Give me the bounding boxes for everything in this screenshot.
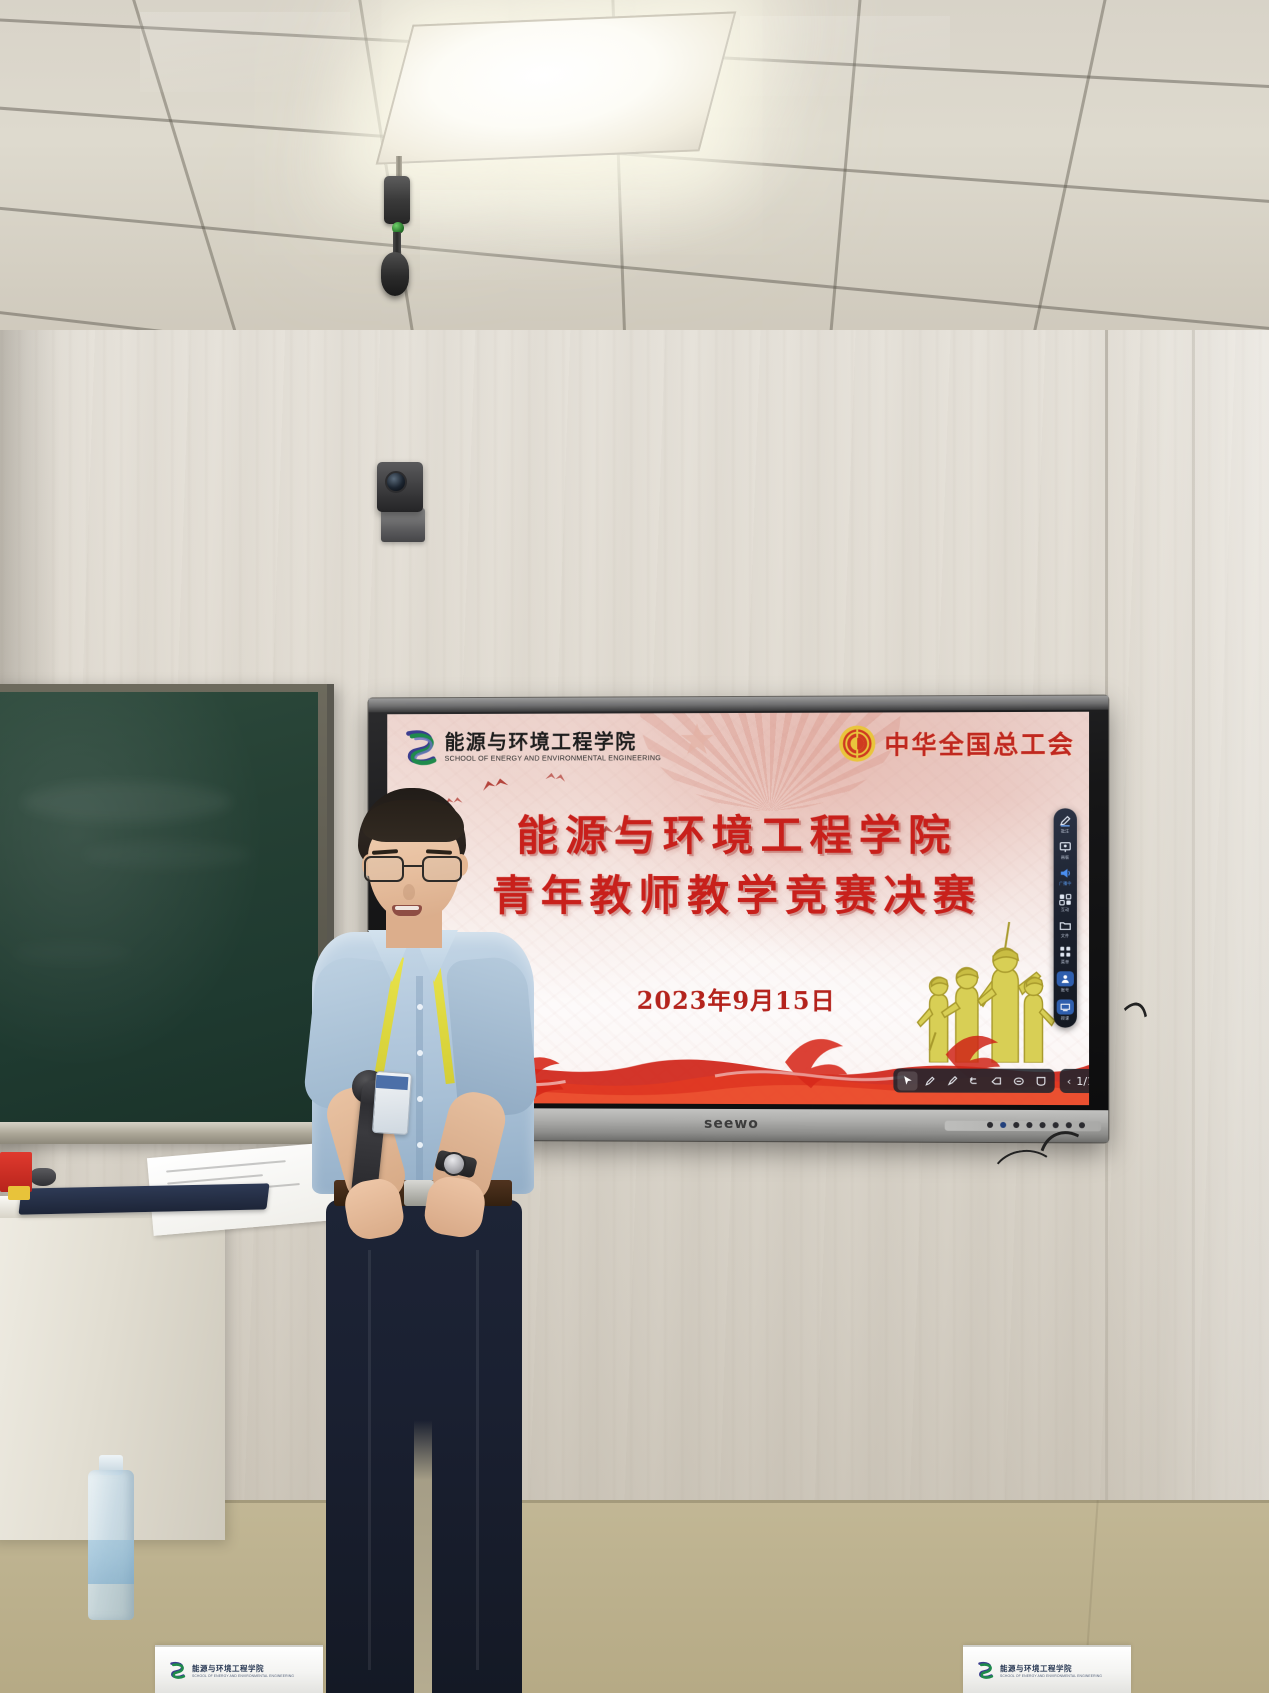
tool-broadcast[interactable]: 广播中 — [1054, 867, 1077, 887]
slide-pager[interactable]: ‹ 1/1 › — [1060, 1069, 1089, 1093]
presenter-glasses — [364, 856, 464, 882]
acftu-logo: 中华全国总工会 — [838, 724, 1075, 763]
display-pen-toolbar[interactable]: ‹ 1/1 › — [893, 1068, 1089, 1093]
broadcast-icon — [1059, 867, 1072, 880]
whiteboard-icon — [1059, 841, 1072, 854]
wave-s-logo-icon — [169, 1661, 186, 1679]
mouse[interactable] — [30, 1168, 56, 1186]
classroom-scene: 能源与环境工程学院 SCHOOL OF ENERGY AND ENVIRONME… — [0, 0, 1269, 1693]
account-icon — [1057, 971, 1074, 986]
placard-name-cn: 能源与环境工程学院 — [1000, 1663, 1102, 1674]
ceiling-mic-body — [384, 176, 410, 224]
pen-icon[interactable] — [920, 1071, 940, 1090]
camera-lens-icon — [385, 471, 407, 493]
select-cursor-icon[interactable] — [897, 1071, 917, 1090]
display-top-bezel — [368, 696, 1108, 713]
teach-icon — [1057, 999, 1074, 1014]
keyboard[interactable] — [18, 1183, 269, 1214]
presenter — [276, 780, 546, 1693]
page-indicator: 1/1 — [1076, 1074, 1089, 1087]
presenter-nose — [403, 884, 415, 900]
pen-tool-group[interactable] — [893, 1068, 1054, 1093]
chalkboard-surface[interactable] — [0, 692, 318, 1136]
red-box-cap — [8, 1186, 30, 1200]
eraser-icon[interactable] — [986, 1071, 1006, 1090]
tool-account[interactable]: 账号 — [1054, 971, 1077, 993]
ceiling-light-panel — [376, 11, 737, 164]
acftu-name-cn: 中华全国总工会 — [884, 725, 1075, 762]
tool-interaction[interactable]: 互动 — [1054, 893, 1077, 913]
id-badge-header — [376, 1075, 409, 1090]
school-name-en: SCHOOL OF ENERGY AND ENVIRONMENTAL ENGIN… — [445, 753, 662, 763]
display-brand-label: seewo — [704, 1116, 759, 1132]
wave-s-logo-icon — [403, 728, 439, 766]
display-indicator-leds — [987, 1122, 1085, 1128]
display-tool-rail[interactable]: 批注 画板 广播中 — [1054, 808, 1077, 1027]
presenter-fringe — [362, 800, 464, 842]
ceiling — [0, 0, 1269, 350]
shape-oval-icon[interactable] — [1008, 1071, 1028, 1090]
interaction-icon — [1059, 893, 1072, 906]
folder-icon — [1059, 919, 1072, 932]
clear-icon[interactable] — [1030, 1071, 1050, 1090]
tool-teach[interactable]: 授课 — [1054, 999, 1077, 1021]
pen-annotate-icon — [1059, 814, 1072, 827]
placard-name-en: SCHOOL OF ENERGY AND ENVIRONMENTAL ENGIN… — [1000, 1674, 1102, 1678]
wave-s-logo-icon — [977, 1661, 994, 1679]
school-name-cn: 能源与环境工程学院 — [445, 731, 662, 753]
tool-files[interactable]: 文件 — [1054, 919, 1077, 939]
presenter-teeth — [395, 906, 419, 910]
grid-menu-icon — [1059, 945, 1072, 958]
ceiling-drop-microphone — [381, 252, 409, 296]
tool-menu[interactable]: 菜单 — [1054, 945, 1077, 965]
presenter-leg-gap — [414, 1420, 432, 1693]
highlighter-icon[interactable] — [942, 1071, 962, 1090]
water-bottle-label — [88, 1540, 134, 1584]
tool-annotate[interactable]: 批注 — [1054, 814, 1077, 834]
prev-page-button[interactable]: ‹ — [1067, 1074, 1071, 1087]
name-placard-right: 能源与环境工程学院 SCHOOL OF ENERGY AND ENVIRONME… — [963, 1645, 1131, 1693]
camera-mount-plate — [381, 508, 425, 542]
undo-icon[interactable] — [964, 1071, 984, 1090]
school-logo: 能源与环境工程学院 SCHOOL OF ENERGY AND ENVIRONME… — [403, 727, 661, 766]
acftu-emblem-icon — [838, 725, 876, 763]
tool-whiteboard[interactable]: 画板 — [1054, 841, 1077, 861]
